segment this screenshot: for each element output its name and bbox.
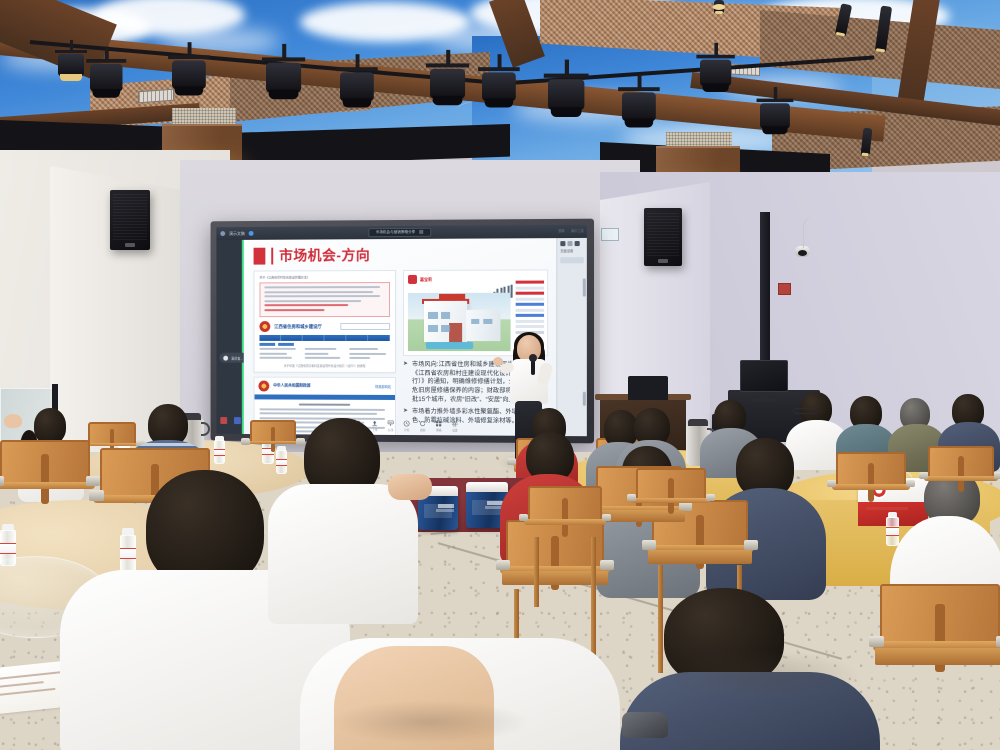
sidebar-record-icon[interactable] (220, 417, 227, 424)
refresh-icon (419, 420, 426, 427)
mof-site-name: 中华人民共和国财政部 (273, 383, 310, 388)
slide-title: 市场机会-方向 (279, 245, 370, 265)
rightbar-scroll-handle[interactable] (583, 278, 586, 296)
floor-shadow-left (330, 700, 530, 744)
raised-hand (4, 414, 22, 428)
policy-doc-card: 关于《江西省农村住房建设管理办法》 江西省住房和城乡建设厅 (254, 270, 396, 372)
presenter-avatar-icon (223, 355, 228, 360)
window-icon[interactable] (567, 241, 572, 246)
rightbar-tool-label: 放映 (558, 228, 564, 233)
rightbar-tools[interactable]: 放映 演示工具 (558, 228, 584, 233)
chair-right-3 (880, 584, 1000, 694)
app-topbar-title: 市场机会与营销策略分享 (368, 228, 431, 237)
gov-search-box[interactable] (340, 323, 390, 330)
brand-mark-icon (408, 275, 417, 284)
app-status-icon (249, 231, 254, 236)
wall-speaker-left (110, 190, 150, 250)
sidebar-bottom-icons[interactable] (220, 417, 241, 424)
slide-column-left: 关于《江西省农村住房建设管理办法》 江西省住房和城乡建设厅 (254, 270, 396, 436)
policy-doc-heading: 关于《江西省农村住房建设管理办法》 (259, 275, 390, 279)
chair-right-4 (836, 452, 906, 514)
toolbar-item-grid[interactable]: 网格 (435, 420, 442, 432)
toolbar-label: 网格 (436, 428, 441, 432)
toolbar-label: 刷新 (420, 428, 425, 432)
app-topbar-left-label: 演示文稿 (229, 230, 245, 236)
gov-site-header: 江西省住房和城乡建设厅 (259, 321, 390, 332)
fire-alarm-icon (778, 283, 791, 295)
floor-shadow-right (660, 650, 860, 700)
recessed-downlight (713, 4, 725, 10)
toolbar-label: 设置 (452, 428, 457, 432)
chair-right-5 (928, 446, 994, 504)
gov-site-name: 江西省住房和城乡建设厅 (274, 324, 322, 330)
presenter-left-hand (493, 357, 503, 366)
title-accent-bar (271, 247, 273, 264)
bullet-arrow-icon: ➤ (403, 361, 408, 404)
mof-emblem-icon (258, 380, 269, 391)
rightbar-icon-row[interactable] (557, 238, 587, 246)
villa-illustration (408, 293, 511, 351)
side-monitor[interactable] (740, 360, 788, 392)
chair-mid-floor (636, 468, 706, 526)
conference-room-scene: 演示文稿 市场机会与营销策略分享 演讲者... 1 (0, 0, 1000, 750)
grid-icon (435, 420, 442, 427)
water-bottle-9 (0, 524, 16, 566)
rightbar-tool-label: 演示工具 (571, 228, 584, 233)
sidebar-pill-label: 演讲者... (231, 355, 243, 360)
gov-nav-bar[interactable] (259, 335, 390, 341)
gov-emblem-icon (259, 321, 270, 332)
shoe (622, 712, 668, 738)
policy-doc-caption: 关于印发《江西省农房和村庄建设现代化设计指引（试行）》的通知 (259, 363, 390, 367)
toolbar-item-settings[interactable]: 设置 (451, 420, 458, 432)
toolbar-item-refresh[interactable]: 刷新 (419, 420, 426, 432)
wall-speaker-right (644, 208, 682, 266)
app-sidebar[interactable]: 演讲者... 1 (216, 240, 243, 434)
app-topbar-title-text: 市场机会与营销策略分享 (376, 230, 415, 234)
render-side-legend (516, 281, 544, 336)
podium-laptop[interactable] (628, 376, 668, 400)
exit-sign-icon (601, 228, 619, 241)
audience-person-foreground-mid (268, 418, 418, 618)
sidebar-share-icon[interactable] (234, 417, 241, 424)
mof-site-header: 中华人民共和国财政部 财政部网站 (255, 377, 395, 394)
minimize-icon[interactable] (560, 241, 565, 246)
policy-doc-redbox (259, 282, 390, 317)
chair-mid-floor-2 (528, 486, 602, 550)
handheld-microphone (531, 359, 535, 375)
mof-site-nav-label: 财政部网站 (375, 383, 391, 388)
slide-body: 关于《江西省农村住房建设管理办法》 江西省住房和城乡建设厅 (254, 269, 549, 436)
gov-tab-row (259, 343, 390, 346)
app-rightbar[interactable]: 放映 演示工具 页面设置 (556, 238, 587, 436)
brand-name: 嘉宝莉 (420, 276, 432, 282)
slide-title-row: 市场机会-方向 (254, 244, 549, 265)
eyeglasses-icon (793, 408, 817, 414)
rightbar-button[interactable] (560, 257, 583, 263)
camera-cable (803, 214, 829, 248)
title-accent-block (254, 247, 266, 264)
layers-icon[interactable] (575, 241, 580, 246)
gov-list-columns (259, 348, 390, 362)
app-dot-icon (220, 231, 225, 236)
ceiling-vent-left (138, 89, 174, 104)
settings-icon (451, 420, 458, 427)
foreground-person-arm (388, 474, 432, 500)
rightbar-panel-label: 页面设置 (557, 246, 587, 255)
water-bottle-3 (214, 436, 225, 464)
rightbar-scroll-handle-lower[interactable] (583, 392, 586, 406)
